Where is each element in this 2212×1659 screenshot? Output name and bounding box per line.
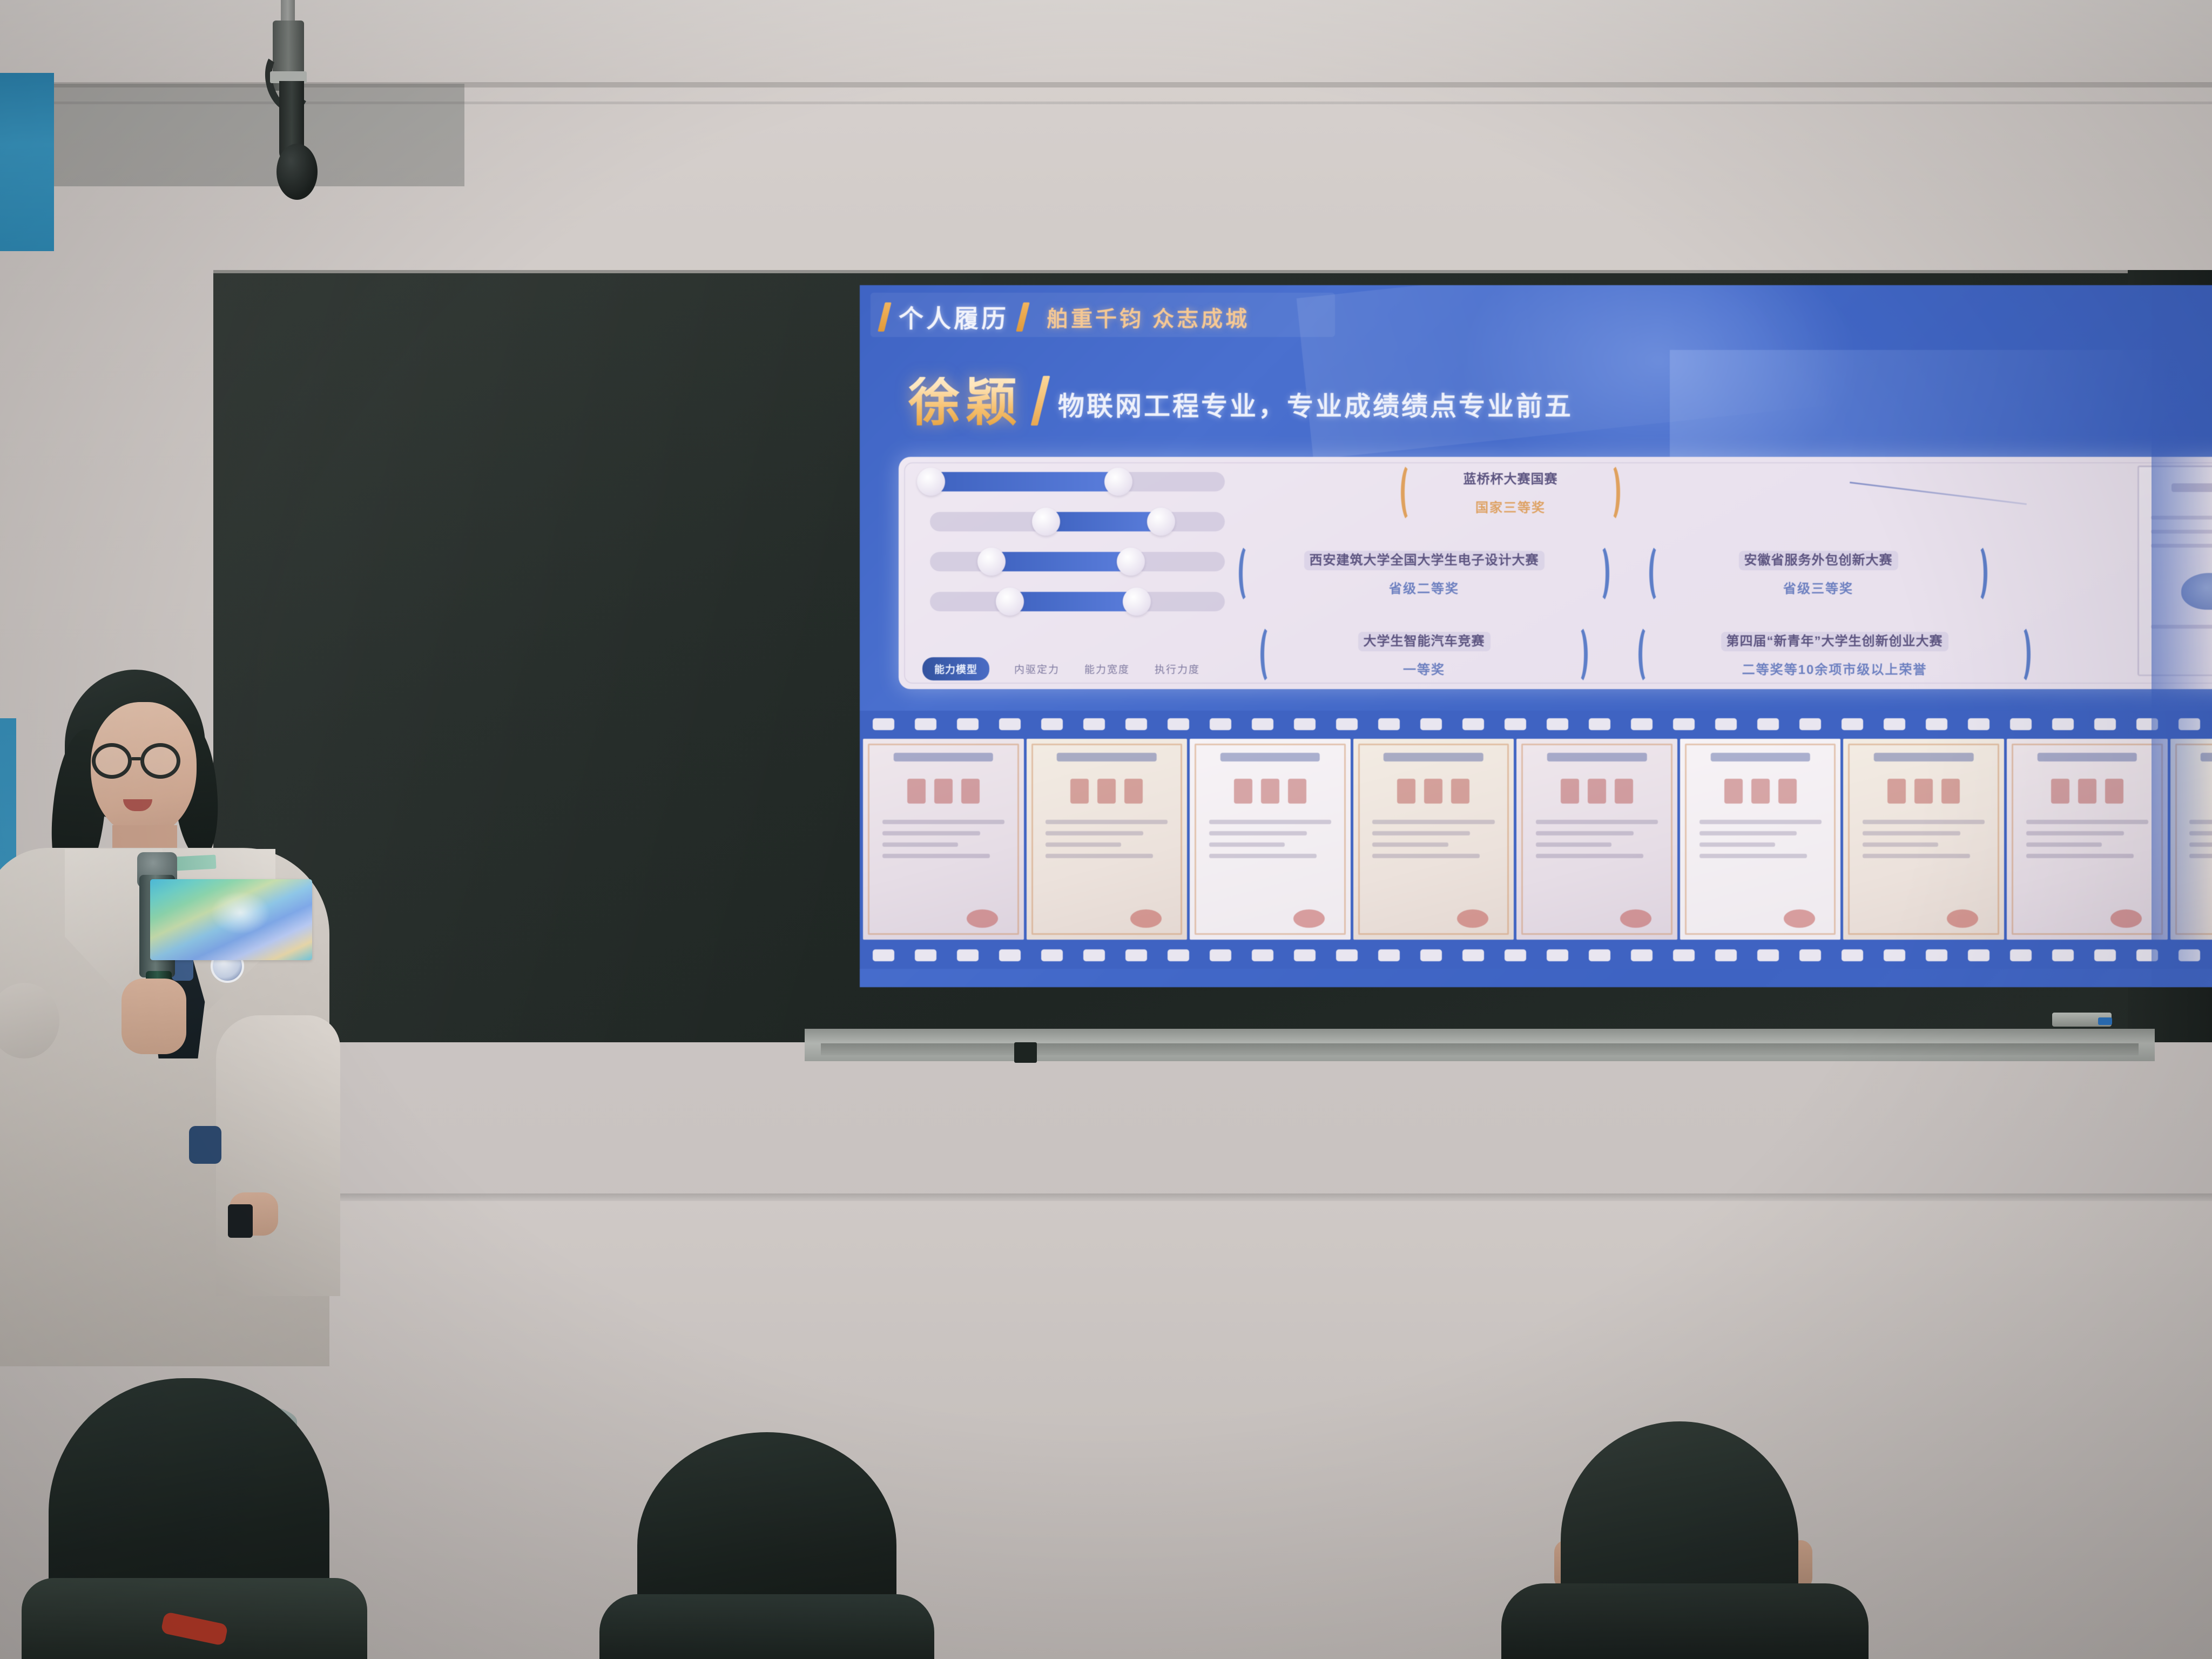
filmstrip-sprockets-top [860,716,2212,732]
filmstrip-sprocket [999,949,1021,961]
bracket-icon-right [1602,462,1620,523]
filmstrip-sprocket [1631,718,1653,730]
filmstrip-sprocket [2094,949,2116,961]
filmstrip-sprocket [873,949,894,961]
bracket-icon-left [1638,624,1657,685]
filmstrip-sprocket [1125,949,1147,961]
bar-cap-end [1147,508,1175,536]
bracket-icon-left [1260,624,1279,685]
presenter-role: 物联网工程专业，专业成绩绩点专业前五 [1058,385,1573,423]
filmstrip-sprocket [1083,949,1105,961]
award-result: 一等奖 [1286,659,1562,678]
filmstrip-sprockets-bottom [860,947,2212,963]
bar-fill [990,552,1130,571]
certificate-seal-icon [1293,909,1325,928]
chart-legend-pill[interactable]: 能力模型 [922,657,989,680]
bar-cap-start [977,548,1006,576]
eyeglasses-bridge [131,757,141,760]
filmstrip-sprocket [2010,718,2032,730]
filmstrip-sprocket [1968,718,1990,730]
filmstrip-sprocket [1799,949,1821,961]
stylus-pen-icon[interactable] [2098,1017,2112,1025]
filmstrip-sprocket [957,718,979,730]
certificate-seal-icon [2110,909,2142,928]
whiteboard-sensor-icon [1014,1042,1037,1063]
eyeglasses-icon-left [92,743,132,779]
filmstrip-items [860,739,2212,940]
certificate-title-chars [1234,779,1306,804]
filmstrip-sprocket [1210,718,1231,730]
filmstrip-sprocket [1041,949,1063,961]
certificate-title-chars [1397,779,1469,804]
chart-axis: 能力模型内驱定力能力宽度执行力度 [922,657,1230,680]
audience-front-center [599,1421,934,1659]
chart-axis-label: 执行力度 [1155,662,1200,676]
filmstrip-sprocket [873,718,894,730]
filmstrip-sprocket [1589,718,1610,730]
microphone-flag-highlight [211,891,270,934]
bar-row [917,507,1230,537]
certificate-thumbnail[interactable] [863,739,1024,940]
bracket-icon-right [1591,543,1609,604]
bar-row [917,547,1230,577]
award-result: 省级二等奖 [1265,578,1583,597]
slide-content-card: 能力模型内驱定力能力宽度执行力度 蓝桥杯大赛国赛国家三等奖西安建筑大学全国大学生… [899,457,2212,689]
filmstrip-sprocket [1673,949,1695,961]
filmstrip-sprocket [1589,949,1610,961]
certificate-title-chars [2051,779,2123,804]
slide-header-title: 个人履历 [899,299,1009,335]
presenter-name: 徐颖 [908,377,1023,429]
filmstrip-sprocket [915,949,936,961]
award-item: 蓝桥杯大赛国赛国家三等奖 [1401,462,1628,523]
certificate-thumbnail[interactable] [1843,739,2004,940]
certificate-title-chars [1887,779,1960,804]
filmstrip-sprocket [1041,718,1063,730]
award-item: 大学生智能汽车竞赛一等奖 [1260,624,1595,685]
bar-cap-start [917,468,945,496]
filmstrip-sprocket [1926,718,1947,730]
filmstrip-sprocket [1842,718,1863,730]
bar-row [917,586,1230,617]
filmstrip-sprocket [1168,718,1189,730]
certificate-title-chars [1561,779,1633,804]
certificate-title-chars [1070,779,1143,804]
certificate-body-lines [882,820,1004,865]
certificate-header [2037,753,2136,761]
bracket-icon-left [1239,543,1257,604]
certificate-title-chars [907,779,980,804]
certificate-header [1874,753,1973,761]
filmstrip-sprocket [2052,718,2074,730]
chart-axis-label: 能力宽度 [1084,662,1130,676]
certificate-body-lines [2026,820,2148,865]
ceiling-microphone-icon [276,144,318,200]
certificate-header [1710,753,1810,761]
filmstrip-sprocket [1252,949,1273,961]
skill-bar-chart: 能力模型内驱定力能力宽度执行力度 [917,467,1230,656]
bar-cap-start [996,588,1024,616]
bracket-icon-right [2012,624,2031,685]
award-list: 蓝桥杯大赛国赛国家三等奖西安建筑大学全国大学生电子设计大赛省级二等奖安徽省服务外… [1239,462,2065,684]
presenter [0,637,373,1366]
certificate-thumbnail[interactable] [1190,739,1351,940]
filmstrip-sprocket [1505,718,1526,730]
filmstrip-sprocket [1083,718,1105,730]
certificate-seal-icon [1130,909,1162,928]
filmstrip-sprocket [1547,949,1568,961]
bar-cap-end [1104,468,1132,496]
filmstrip-sprocket [915,718,936,730]
presenter-hand-left [122,979,186,1054]
award-title: 西安建筑大学全国大学生电子设计大赛 [1304,551,1545,570]
bracket-icon-left [1649,543,1668,604]
presentation-slide: 个人履历 舶重千钧 众志成城 徐颖 物联网工程专业，专业成绩绩点专业前五 能力模… [860,285,2212,987]
certificate-header [894,753,993,761]
bar-cap-start [1032,508,1060,536]
chart-axis-label: 内驱定力 [1014,662,1060,676]
certificate-body-lines [1700,820,1822,865]
filmstrip-sprocket [2052,949,2074,961]
filmstrip-sprocket [1378,949,1400,961]
certificate-thumbnail[interactable] [1680,739,1841,940]
filmstrip-sprocket [1462,718,1484,730]
filmstrip-sprocket [1799,718,1821,730]
filmstrip-sprocket [1884,718,1905,730]
filmstrip-sprocket [1968,949,1990,961]
award-result: 省级三等奖 [1675,578,1961,597]
certificate-body-lines [1046,820,1168,865]
certificate-thumbnail[interactable] [1027,739,1188,940]
certificate-body-lines [1372,820,1494,865]
wall-upper-band [0,0,2212,81]
filmstrip-sprocket [1631,949,1653,961]
award-item: 第四届“新青年”大学生创新创业大赛二等奖等10余项市级以上荣誉 [1638,624,2038,685]
certificate-seal-icon [967,909,998,928]
certificate-body-lines [1863,820,1985,865]
slash-icon-name [1031,376,1050,426]
certificate-thumbnail[interactable] [1516,739,1677,940]
certificate-filmstrip [860,711,2212,969]
bar-fill [930,472,1117,491]
certificate-header [1057,753,1156,761]
filmstrip-sprocket [1420,718,1442,730]
certificate-seal-icon [1457,909,1488,928]
filmstrip-sprocket [1673,718,1695,730]
filmstrip-sprocket [1715,949,1737,961]
certificate-seal-icon [1784,909,1815,928]
filmstrip-sprocket [1336,949,1358,961]
certificate-thumbnail[interactable] [2007,739,2168,940]
filmstrip-sprocket [1210,949,1231,961]
award-item: 西安建筑大学全国大学生电子设计大赛省级二等奖 [1239,543,1617,604]
bar-row [917,467,1230,497]
filmstrip-sprocket [1547,718,1568,730]
award-title: 安徽省服务外包创新大赛 [1739,551,1898,570]
filmstrip-sprocket [1842,949,1863,961]
filmstrip-sprocket [1294,718,1316,730]
filmstrip-sprocket [1884,949,1905,961]
audience-shoulders [1501,1583,1869,1659]
certificate-body-lines [1536,820,1658,865]
bar-cap-end [1117,548,1145,576]
slash-icon-right [1016,302,1029,332]
eyeglasses-icon-right [140,743,180,779]
bar-cap-end [1123,588,1151,616]
bar-fill [1009,592,1136,611]
presentation-clicker-icon[interactable] [228,1204,253,1238]
certificate-seal-icon [1620,909,1651,928]
certificate-header [1547,753,1647,761]
filmstrip-sprocket [2010,949,2032,961]
filmstrip-sprocket [1378,718,1400,730]
filmstrip-sprocket [1505,949,1526,961]
bar-fill [1045,512,1160,531]
presenter-arm-right [216,1015,340,1296]
award-title: 大学生智能汽车竞赛 [1358,632,1491,651]
wall-shadow [49,84,464,186]
filmstrip-sprocket [1926,949,1947,961]
filmstrip-sprocket [1294,949,1316,961]
filmstrip-sprocket [957,949,979,961]
certificate-seal-icon [1947,909,1978,928]
filmstrip-sprocket [1757,718,1779,730]
filmstrip-sprocket [1336,718,1358,730]
jacket-button-icon [172,957,193,981]
filmstrip-sprocket [1462,949,1484,961]
filmstrip-sprocket [1252,718,1273,730]
projector-light-spill [2152,285,2212,987]
bracket-icon-left [1401,462,1419,523]
slide-header-subtitle: 舶重千钧 众志成城 [1047,301,1250,333]
audience-shoulders [599,1594,934,1659]
certificate-header [1384,753,1483,761]
certificate-header [1220,753,1320,761]
filmstrip-sprocket [1715,718,1737,730]
certificate-body-lines [1209,820,1331,865]
certificate-title-chars [1724,779,1797,804]
bracket-icon-right [1969,543,1987,604]
slide-header: 个人履历 舶重千钧 众志成城 [881,299,1250,335]
certificate-thumbnail[interactable] [1353,739,1514,940]
filmstrip-sprocket [2094,718,2116,730]
slide-name-row: 徐颖 物联网工程专业，专业成绩绩点专业前五 [908,376,1573,429]
filmstrip-sprocket [1420,949,1442,961]
award-title: 蓝桥杯大赛国赛 [1458,470,1563,489]
filmstrip-sprocket [1757,949,1779,961]
audience-front-right [1491,1389,1869,1659]
audience-front-left [16,1357,362,1659]
award-item: 安徽省服务外包创新大赛省级三等奖 [1649,543,1995,604]
award-title: 第四届“新青年”大学生创新创业大赛 [1721,632,1948,651]
blue-wall-panel [0,73,54,251]
bracket-icon-right [1569,624,1588,685]
award-result: 国家三等奖 [1427,497,1594,516]
jacket-button-icon-2 [189,1126,221,1164]
filmstrip-sprocket [999,718,1021,730]
award-result: 二等奖等10余项市级以上荣誉 [1664,659,2005,678]
filmstrip-sprocket [1168,949,1189,961]
classroom-photo: 个人履历 舶重千钧 众志成城 徐颖 物联网工程专业，专业成绩绩点专业前五 能力模… [0,0,2212,1659]
filmstrip-sprocket [1125,718,1147,730]
connector-line [1850,482,2027,505]
